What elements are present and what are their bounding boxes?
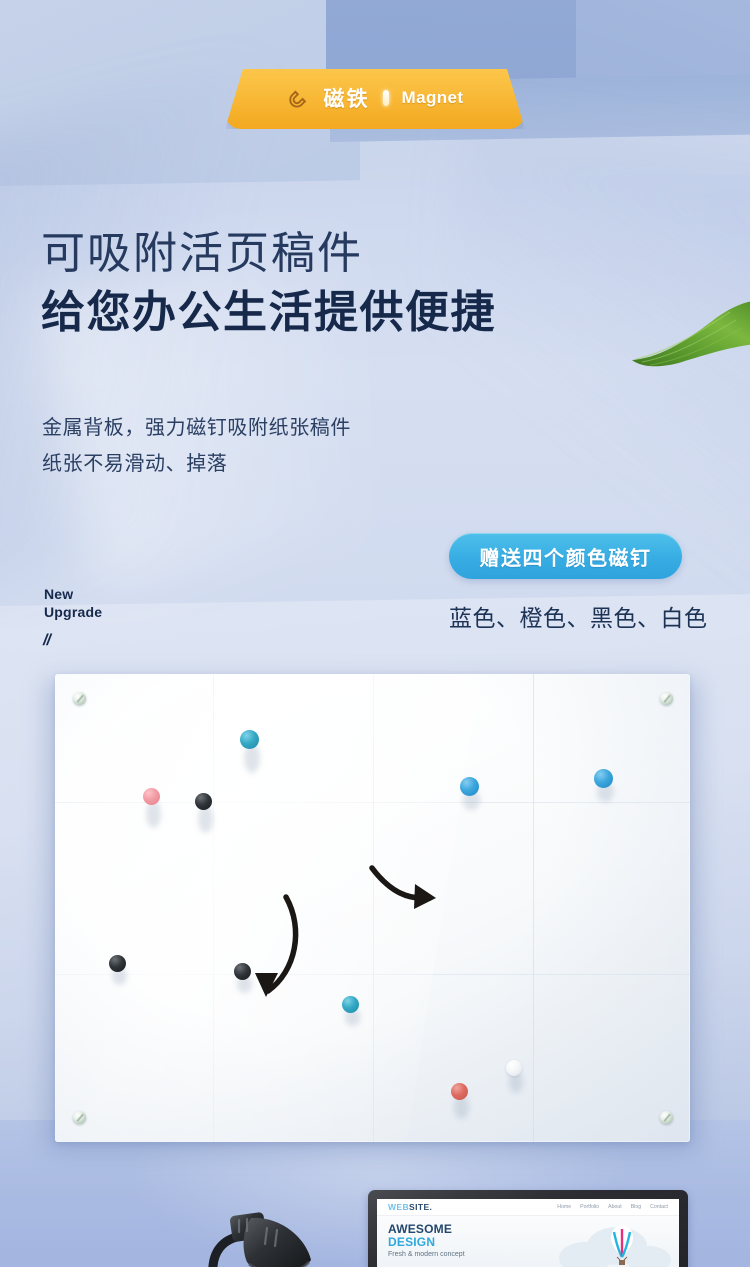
headline-line-1: 可吸附活页稿件	[41, 231, 363, 277]
banner-title-en: Magnet	[402, 88, 464, 108]
magnet-white	[506, 1060, 522, 1076]
magnet-black	[195, 793, 212, 810]
site-logo-part2: SITE.	[409, 1202, 432, 1212]
magnet-teal	[342, 996, 359, 1013]
site-nav: Home Portfolio About Blog Contact	[557, 1204, 668, 1210]
desk-lamp	[205, 1188, 350, 1267]
new-upgrade-line-2: Upgrade	[44, 604, 102, 622]
description-line-1: 金属背板，强力磁钉吸附纸张稿件	[42, 411, 351, 447]
mounting-screw-icon	[73, 692, 86, 705]
description-text: 金属背板，强力磁钉吸附纸张稿件 纸张不易滑动、掉落	[42, 411, 351, 482]
nav-item-about[interactable]: About	[608, 1204, 622, 1210]
leaf-decoration	[630, 300, 750, 380]
banner-divider	[383, 90, 389, 106]
magnet-black	[234, 963, 251, 980]
description-line-2: 纸张不易滑动、掉落	[42, 447, 351, 483]
arrow-to-doodle	[220, 889, 310, 1009]
nav-item-contact[interactable]: Contact	[650, 1204, 668, 1210]
laptop-mockup: WEBSITE. Home Portfolio About Blog Conta…	[368, 1190, 688, 1267]
magnet-blue	[460, 777, 479, 796]
site-hero: AWESOME DESIGN Fresh & modern concept	[377, 1216, 679, 1267]
new-upgrade-slash: //	[43, 632, 50, 650]
new-upgrade-label: New Upgrade	[44, 586, 102, 622]
product-detail-page: 磁铁 Magnet 可吸附活页稿件 给您办公生活提供便捷 金属背板，强力磁钉吸附…	[0, 0, 750, 1267]
gift-badge-label: 赠送四个颜色磁钉	[480, 542, 652, 571]
nav-item-home[interactable]: Home	[557, 1204, 571, 1210]
magnet-pink	[143, 788, 160, 805]
section-banner: 磁铁 Magnet	[225, 69, 525, 129]
nav-item-portfolio[interactable]: Portfolio	[580, 1204, 599, 1210]
site-header: WEBSITE. Home Portfolio About Blog Conta…	[377, 1199, 679, 1216]
site-logo-part1: WEB	[388, 1202, 409, 1212]
headline-line-2: 给您办公生活提供便捷	[41, 290, 496, 336]
gift-badge: 赠送四个颜色磁钉	[449, 533, 682, 579]
mounting-screw-icon	[660, 1111, 673, 1124]
banner-title-cn: 磁铁	[324, 83, 370, 113]
nav-item-blog[interactable]: Blog	[631, 1204, 641, 1210]
magnet-icon	[287, 86, 311, 110]
color-options-label: 蓝色、橙色、黑色、白色	[449, 599, 708, 633]
arrow-to-blueprint	[368, 862, 448, 914]
new-upgrade-line-1: New	[44, 586, 102, 604]
laptop-screen: WEBSITE. Home Portfolio About Blog Conta…	[377, 1199, 679, 1267]
site-logo: WEBSITE.	[388, 1202, 432, 1212]
magnet-teal	[240, 730, 259, 749]
laptop-frame: WEBSITE. Home Portfolio About Blog Conta…	[368, 1190, 688, 1267]
mounting-screw-icon	[73, 1111, 86, 1124]
whiteboard: Promotional Messages Optimized Landing P…	[55, 674, 690, 1142]
hero-balloon-clouds-icon	[551, 1218, 671, 1267]
magnet-blue	[594, 769, 613, 788]
magnet-black	[109, 955, 126, 972]
mounting-screw-icon	[660, 692, 673, 705]
magnet-red	[451, 1083, 468, 1100]
